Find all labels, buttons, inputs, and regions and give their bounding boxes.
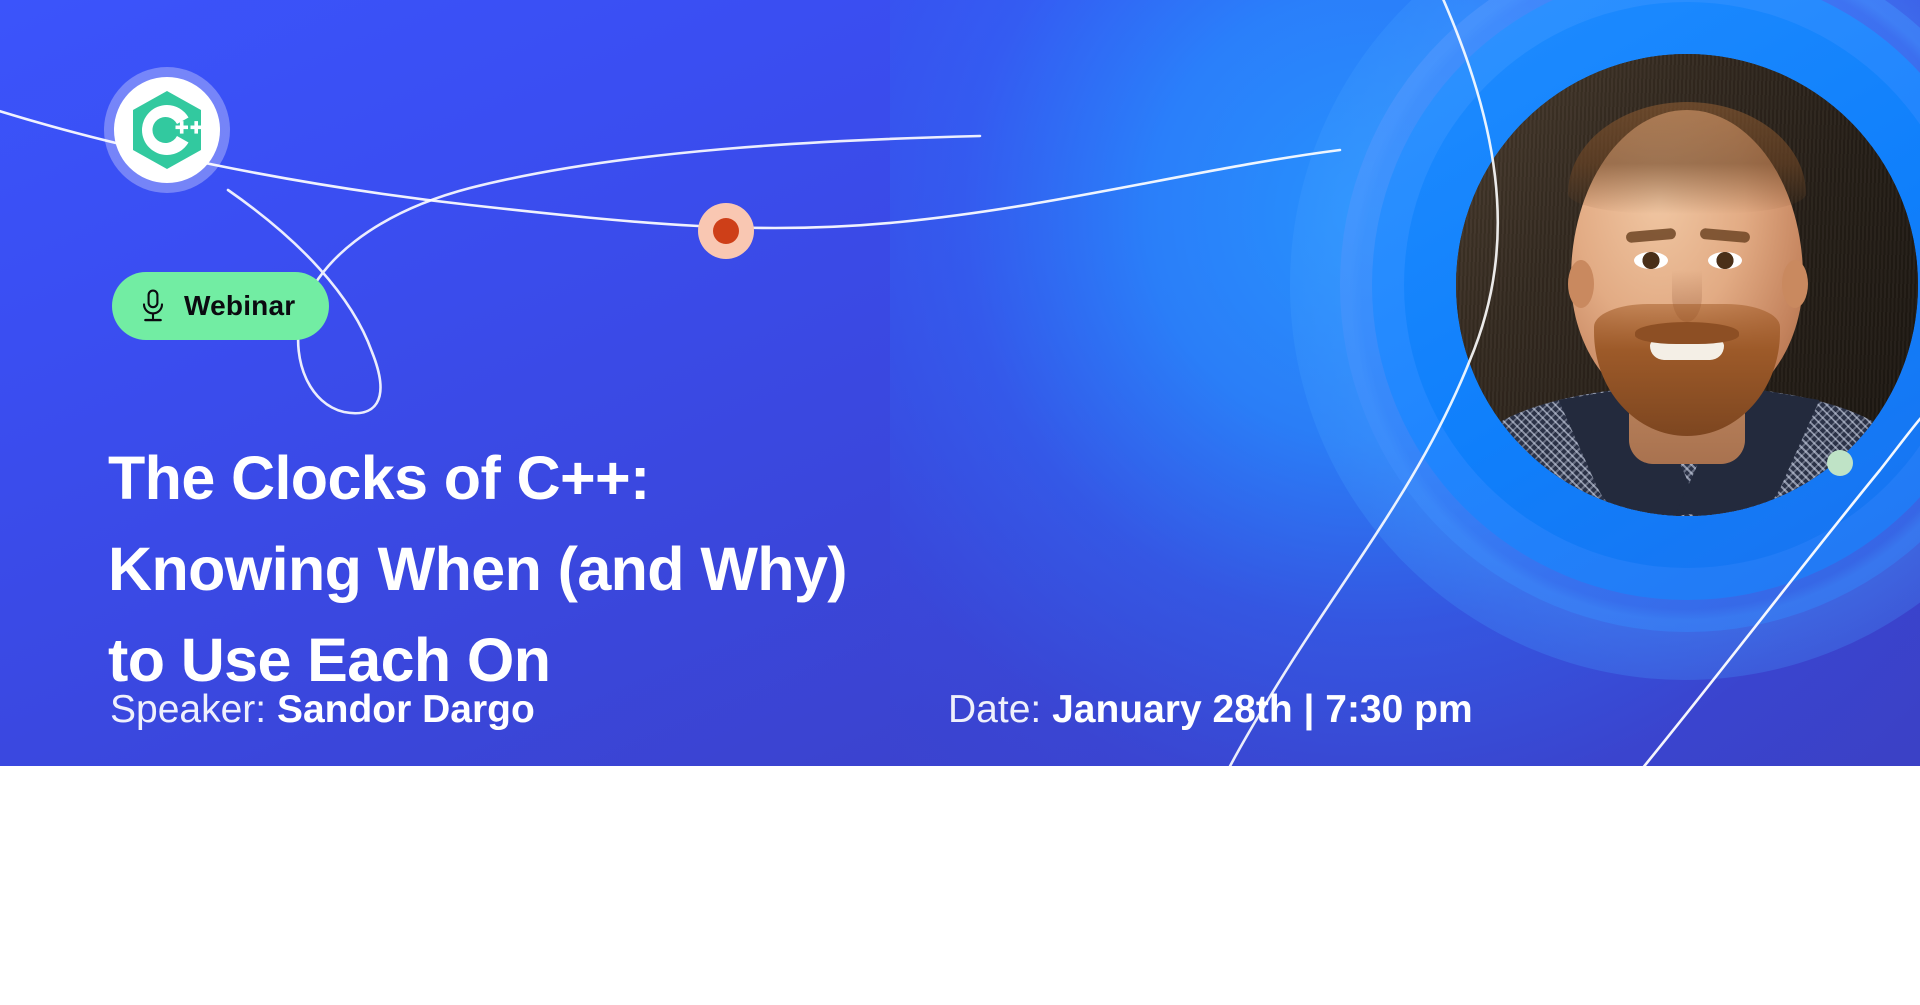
orange-node-core xyxy=(713,218,739,244)
photo-moustache xyxy=(1635,322,1739,344)
deco-line-right xyxy=(1206,0,1498,766)
hero-section: Webinar The Clocks of C++: Knowing When … xyxy=(0,0,1920,766)
date-label: Date: xyxy=(948,688,1041,731)
title-line-2: Knowing When (and Why) xyxy=(108,524,1228,615)
page-title: The Clocks of C++: Knowing When (and Why… xyxy=(108,433,1228,706)
speaker-meta: Speaker: Sandor Dargo xyxy=(110,688,535,732)
mint-node-dot xyxy=(1827,450,1853,476)
cpp-logo-disc xyxy=(114,77,220,183)
title-line-1: The Clocks of C++: xyxy=(108,433,1228,524)
webinar-badge[interactable]: Webinar xyxy=(112,272,329,340)
deco-line-loop xyxy=(228,136,980,413)
photo-eye-left xyxy=(1634,252,1668,269)
cpp-logo-badge xyxy=(104,67,230,193)
date-meta: Date: January 28th | 7:30 pm xyxy=(948,688,1473,732)
cpp-logo-icon xyxy=(130,89,204,171)
orange-node-dot xyxy=(698,203,754,259)
webinar-banner: Webinar The Clocks of C++: Knowing When … xyxy=(0,0,1920,1005)
speaker-name: Sandor Dargo xyxy=(277,688,535,731)
webinar-badge-label: Webinar xyxy=(184,290,295,322)
photo-ear-left xyxy=(1568,260,1594,308)
photo-ear-right xyxy=(1782,260,1808,308)
speaker-label: Speaker: xyxy=(110,688,266,731)
speaker-photo xyxy=(1456,54,1918,516)
microphone-icon xyxy=(140,289,166,323)
date-value: January 28th | 7:30 pm xyxy=(1052,688,1473,731)
footer-section: Partner: BOSCH Invented for life Organiz… xyxy=(0,766,1920,1005)
photo-eye-right xyxy=(1708,252,1742,269)
